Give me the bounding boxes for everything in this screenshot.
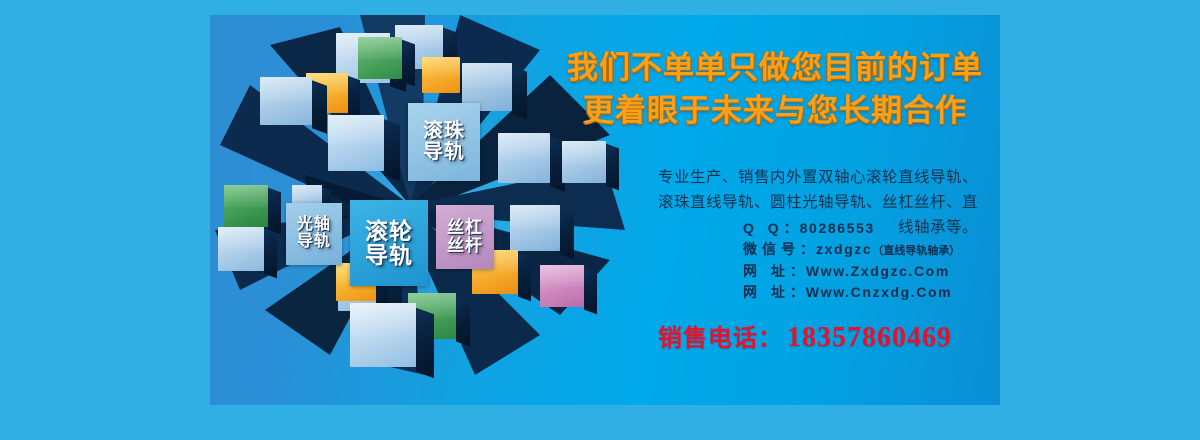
cube-green-left — [224, 185, 268, 227]
sales-phone-number[interactable]: 18357860469 — [787, 322, 952, 354]
cube-blue-bottom-big — [350, 303, 416, 367]
contact-label: 网 址 — [743, 282, 790, 303]
cube-blue-right-lower — [510, 205, 560, 251]
cube-blue-far-right — [562, 141, 606, 183]
cube-pink-lower-right — [540, 265, 584, 307]
product-label-line1: 光轴 — [297, 217, 331, 234]
contact-separator: ： — [784, 218, 798, 239]
contact-row-wechat: 微信号 ： zxdgzc （直线导轨轴承） — [743, 239, 993, 260]
product-label-line2: 导轨 — [365, 243, 413, 267]
product-label-line1: 滚珠 — [423, 121, 465, 142]
contact-value-wechat[interactable]: zxdgzc — [816, 239, 872, 260]
contact-separator: ： — [790, 261, 804, 282]
contact-info-block: Q Q ： 80286553 微信号 ： zxdgzc （直线导轨轴承） 网 址… — [743, 218, 993, 303]
cube-green-top — [358, 37, 402, 79]
contact-label: 网 址 — [743, 261, 790, 282]
product-label-line1: 丝杠 — [447, 219, 483, 237]
cube-blue-center-left — [328, 115, 384, 171]
contact-value-website-1[interactable]: Www.Zxdgzc.Com — [806, 261, 950, 282]
banner-page: 滚珠 导轨 光轴 导轨 滚轮 导轨 丝杠 丝杆 我们不单单只做您目前的订单 更着… — [0, 0, 1200, 440]
product-label-line2: 导轨 — [423, 142, 465, 163]
contact-row-website-2: 网 址 ： Www.Cnzxdg.Com — [743, 282, 993, 303]
contact-value-website-2[interactable]: Www.Cnzxdg.Com — [806, 282, 952, 303]
cube-blue-left-upper — [260, 77, 312, 125]
product-label-gunzhu-daogui[interactable]: 滚珠 导轨 — [408, 103, 480, 181]
headline-line-1: 我们不单单只做您目前的订单 — [560, 47, 990, 90]
contact-row-website-1: 网 址 ： Www.Zxdgzc.Com — [743, 261, 993, 282]
promo-banner: 滚珠 导轨 光轴 导轨 滚轮 导轨 丝杠 丝杆 我们不单单只做您目前的订单 更着… — [210, 15, 1000, 405]
sales-phone-block[interactable]: 销售电话： 18357860469 — [658, 318, 998, 354]
contact-separator: ： — [790, 282, 804, 303]
cube-orange-top-right — [422, 57, 460, 93]
contact-value-qq[interactable]: 80286553 — [800, 218, 875, 239]
description-line-2: 滚珠直线导轨、圆柱光轴导轨、丝杠丝杆、直 — [608, 190, 978, 215]
product-label-line2: 导轨 — [297, 234, 331, 251]
product-label-line1: 滚轮 — [365, 219, 413, 243]
description-line-1: 专业生产、销售内外置双轴心滚轮直线导轨、 — [608, 165, 978, 190]
contact-label: Q Q — [743, 218, 784, 239]
headline-line-2: 更着眼于未来与您长期合作 — [560, 90, 990, 133]
contact-separator: ： — [800, 239, 814, 260]
sales-phone-label: 销售电话： — [658, 318, 783, 353]
cube-blue-left-lower — [218, 227, 264, 271]
product-label-guangzhou-daogui[interactable]: 光轴 导轨 — [286, 203, 342, 265]
contact-label: 微信号 — [743, 239, 800, 260]
product-label-gunlun-daogui[interactable]: 滚轮 导轨 — [350, 200, 428, 286]
contact-row-qq: Q Q ： 80286553 — [743, 218, 993, 239]
contact-note-wechat: （直线导轨轴承） — [872, 243, 960, 260]
banner-headline: 我们不单单只做您目前的订单 更着眼于未来与您长期合作 — [560, 47, 990, 133]
cube-blue-right-mid — [498, 133, 550, 183]
product-label-line2: 丝杆 — [447, 237, 483, 255]
product-label-sigang-sigan[interactable]: 丝杠 丝杆 — [436, 205, 494, 269]
